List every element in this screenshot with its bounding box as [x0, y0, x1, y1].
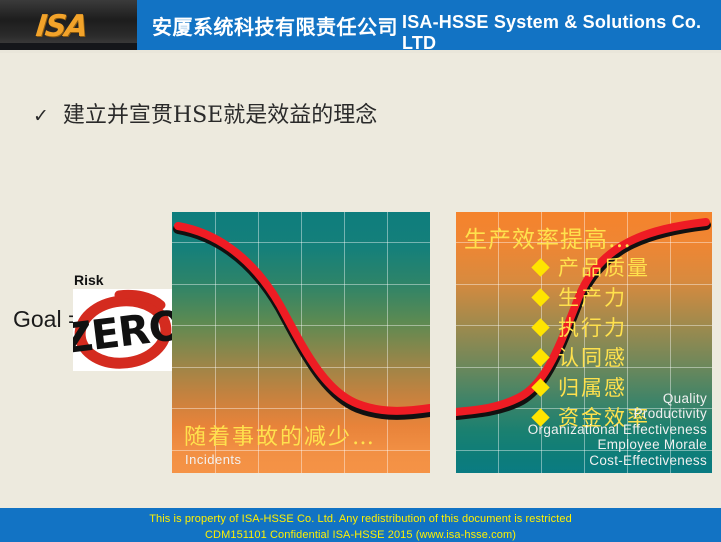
risk-label: Risk: [74, 272, 104, 288]
slide-canvas: ISA 安厦系统科技有限责任公司 ISA-HSSE System & Solut…: [0, 0, 721, 542]
zero-stamp-graphic: ZERO: [73, 289, 173, 371]
list-item: 执行力: [534, 312, 712, 342]
bullet-label: 生产力: [558, 282, 627, 312]
page-title: ✓建立并宣贯HSE就是效益的理念: [33, 97, 377, 129]
productivity-english-labels: Quality Productivity Organizational Effe…: [528, 391, 707, 469]
chart-incidents-panel: 随着事故的减少… Incidents: [172, 212, 430, 473]
header-divider: [0, 50, 721, 53]
productivity-title-cn: 生产效率提高…: [464, 220, 632, 254]
footer-line-1: This is property of ISA-HSSE Co. Ltd. An…: [0, 508, 721, 525]
bullet-label: 执行力: [558, 312, 627, 342]
headline-text: 建立并宣贯HSE就是效益的理念: [63, 103, 377, 128]
diamond-bullet-icon: [531, 288, 549, 306]
footer-line-2: CDM151101 Confidential ISA-HSSE 2015 (ww…: [0, 525, 721, 541]
zero-stamp-svg: ZERO: [73, 289, 173, 371]
goal-equation-label: Goal =: [13, 306, 81, 333]
header-company-name-en: ISA-HSSE System & Solutions Co. LTD: [402, 12, 721, 50]
english-label: Cost-Effectiveness: [528, 453, 707, 469]
chart-productivity-panel: 生产效率提高… 产品质量 生产力 执行力 认同感 归属感: [456, 212, 712, 473]
bullet-label: 产品质量: [558, 252, 650, 282]
list-item: 生产力: [534, 282, 712, 312]
slide-header: ISA 安厦系统科技有限责任公司 ISA-HSSE System & Solut…: [0, 0, 721, 50]
english-label: Productivity: [528, 406, 707, 422]
incidents-caption-cn: 随着事故的减少…: [184, 419, 376, 451]
english-label: Organizational Effectiveness: [528, 422, 707, 438]
list-item: 认同感: [534, 342, 712, 372]
isa-logo-icon: ISA: [34, 9, 88, 44]
diamond-bullet-icon: [531, 348, 549, 366]
header-company-name-cn: 安厦系统科技有限责任公司: [152, 11, 398, 40]
logo-plate: ISA: [0, 0, 137, 50]
bullet-label: 认同感: [558, 342, 627, 372]
diamond-bullet-icon: [531, 318, 549, 336]
goal-zero-block: Goal = Risk ZERO: [10, 272, 175, 372]
english-label: Quality: [528, 391, 707, 407]
list-item: 产品质量: [534, 252, 712, 282]
check-icon: ✓: [33, 105, 49, 127]
slide-footer: This is property of ISA-HSSE Co. Ltd. An…: [0, 508, 721, 542]
english-label: Employee Morale: [528, 437, 707, 453]
incidents-caption-en: Incidents: [185, 452, 242, 467]
diamond-bullet-icon: [531, 258, 549, 276]
